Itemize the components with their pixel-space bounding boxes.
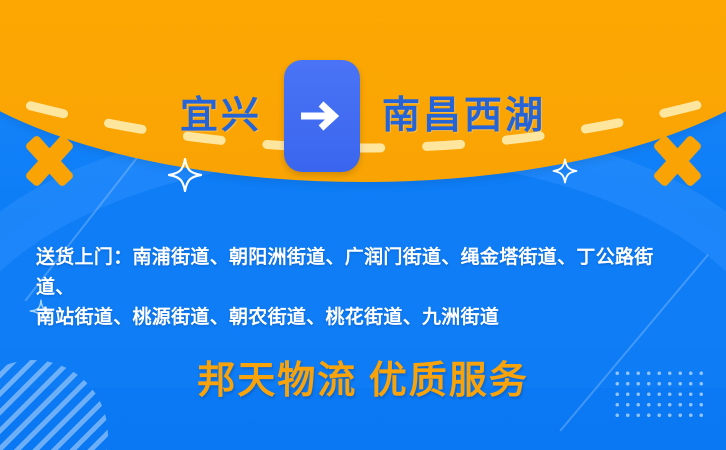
company-slogan: 邦天物流 优质服务 bbox=[0, 358, 726, 406]
destination-city-label: 南昌西湖 bbox=[382, 97, 546, 135]
arrow-right-icon bbox=[284, 60, 360, 172]
delivery-streets-line-1: 送货上门：南浦街道、朝阳洲街道、广润门街道、绳金塔街道、丁公路街道、 bbox=[36, 243, 690, 303]
origin-city-label: 宜兴 bbox=[180, 97, 262, 135]
logistics-route-banner: 宜兴 南昌西湖 送货上门：南浦街道、朝阳洲街道、广润门街道、绳金塔街道、丁公路街… bbox=[0, 0, 726, 450]
delivery-streets-text: 送货上门：南浦街道、朝阳洲街道、广润门街道、绳金塔街道、丁公路街道、 南站街道、… bbox=[0, 243, 726, 333]
route-header: 宜兴 南昌西湖 bbox=[0, 56, 726, 176]
delivery-streets-line-2: 南站街道、桃源街道、朝农街道、桃花街道、九洲街道 bbox=[36, 303, 690, 333]
